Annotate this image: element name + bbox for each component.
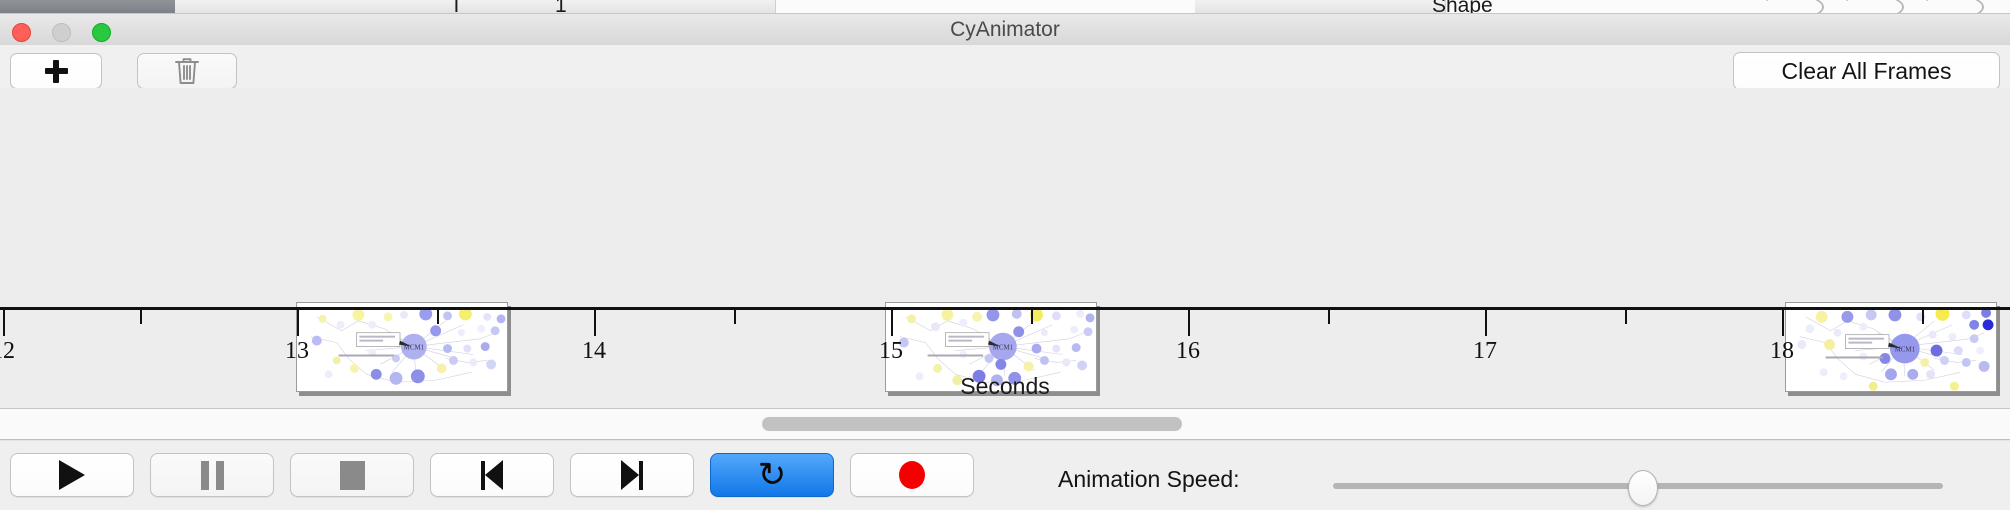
loop-icon: ↻	[758, 458, 787, 492]
background-window-strip: T 1 Shape Shape	[0, 0, 2010, 14]
plus-icon	[45, 60, 68, 83]
stop-button[interactable]	[290, 453, 414, 497]
svg-text:MCM1: MCM1	[404, 345, 425, 352]
axis-tick-label: 17	[1473, 338, 1497, 365]
clear-all-frames-button[interactable]: Clear All Frames	[1733, 52, 2000, 90]
axis-tick-minor	[1625, 310, 1627, 324]
axis-tick-minor	[140, 310, 142, 324]
skip-next-button[interactable]	[570, 453, 694, 497]
axis-tick-label: 16	[1176, 338, 1200, 365]
axis-tick-major	[594, 310, 596, 336]
axis-tick-label: 13	[285, 338, 309, 365]
delete-frame-button[interactable]	[137, 53, 237, 89]
background-label-i: 1	[555, 0, 567, 14]
axis-tick-label: 15	[879, 338, 903, 365]
axis-tick-minor	[437, 310, 439, 324]
svg-text:MCM1: MCM1	[1895, 347, 1916, 354]
axis-tick-major	[3, 310, 5, 336]
background-window-title: Shape	[1432, 0, 1493, 14]
axis-tick-major	[297, 310, 299, 336]
skip-previous-button[interactable]	[430, 453, 554, 497]
scrollbar-thumb[interactable]	[762, 417, 1182, 431]
axis-tick-major	[1188, 310, 1190, 336]
clear-all-frames-label: Clear All Frames	[1782, 58, 1952, 85]
play-icon	[59, 460, 85, 490]
axis-tick-label: 12	[0, 338, 15, 365]
pause-icon	[201, 461, 224, 490]
timeline-axis	[0, 307, 2010, 310]
axis-tick-minor	[734, 310, 736, 324]
background-window-tab	[0, 0, 175, 13]
title-bar: CyAnimator	[0, 14, 2010, 46]
record-icon	[899, 461, 925, 489]
axis-tick-label: 18	[1770, 338, 1794, 365]
animation-speed-slider-knob[interactable]	[1628, 470, 1658, 506]
cyanimator-window: T 1 Shape Shape CyAnimator Clear All Fra…	[0, 0, 2010, 510]
svg-text:MCM1: MCM1	[993, 345, 1014, 352]
trash-icon	[174, 56, 200, 86]
axis-tick-major	[1485, 310, 1487, 336]
axis-tick-minor	[1031, 310, 1033, 324]
window-title: CyAnimator	[0, 14, 2010, 45]
timeline-panel[interactable]: MCM1	[0, 88, 2010, 409]
axis-title: Seconds	[0, 373, 2010, 400]
pause-button[interactable]	[150, 453, 274, 497]
timeline-scrollbar[interactable]	[0, 409, 2010, 440]
background-label-t: T	[450, 0, 463, 14]
axis-tick-major	[1782, 310, 1784, 336]
axis-tick-minor	[1922, 310, 1924, 324]
skip-previous-icon	[481, 460, 503, 490]
axis-tick-minor	[1328, 310, 1330, 324]
axis-tick-label: 14	[582, 338, 606, 365]
record-button[interactable]	[850, 453, 974, 497]
axis-tick-major	[891, 310, 893, 336]
playback-controls: ↻ Animation Speed:	[0, 440, 2010, 510]
toolbar: Clear All Frames	[0, 45, 2010, 89]
animation-speed-label: Animation Speed:	[1058, 466, 1240, 493]
stop-icon	[340, 461, 365, 490]
add-frame-button[interactable]	[10, 53, 102, 89]
play-button[interactable]	[10, 453, 134, 497]
loop-button[interactable]: ↻	[710, 453, 834, 497]
skip-next-icon	[621, 460, 643, 490]
